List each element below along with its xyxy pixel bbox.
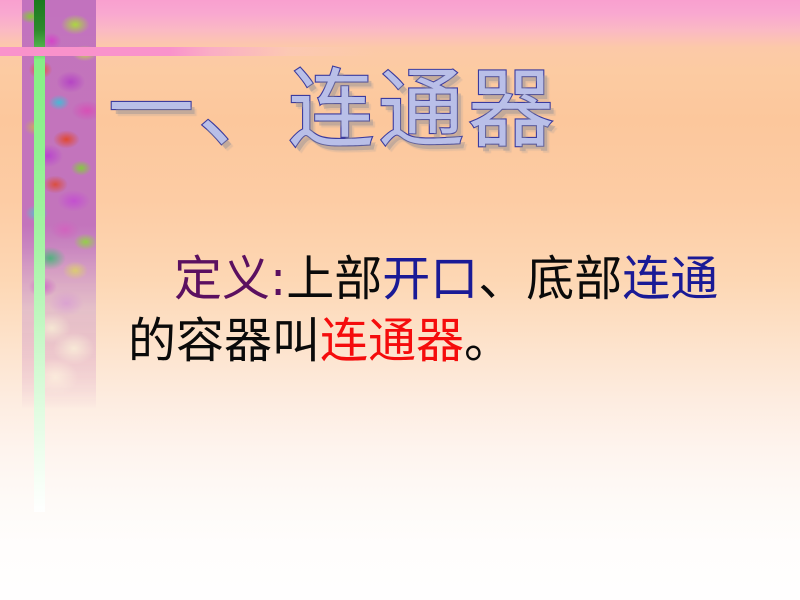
text-period: 。: [464, 313, 512, 369]
text-upper: 上部: [286, 251, 382, 307]
slide-title: 一、连通器: [108, 58, 708, 162]
green-vertical-stripe: [34, 0, 45, 512]
body-line-1: 定义:上部开口、底部连通: [128, 248, 788, 310]
pink-horizontal-rule: [0, 47, 375, 56]
body-line-2: 的容器叫连通器。: [128, 310, 788, 372]
text-term-connected-vessel: 连通器: [320, 313, 464, 369]
text-vessel-called: 的容器叫: [128, 313, 320, 369]
definition-colon: :: [270, 251, 286, 307]
text-opening: 开口: [382, 251, 478, 307]
text-and-bottom: 、底部: [478, 251, 622, 307]
presentation-slide: 一、连通器 定义:上部开口、底部连通 的容器叫连通器。: [0, 0, 800, 600]
definition-label: 定义: [174, 251, 270, 307]
slide-body: 定义:上部开口、底部连通 的容器叫连通器。: [128, 248, 788, 372]
decorative-left-band: [22, 0, 96, 600]
text-connected: 连通: [622, 251, 718, 307]
